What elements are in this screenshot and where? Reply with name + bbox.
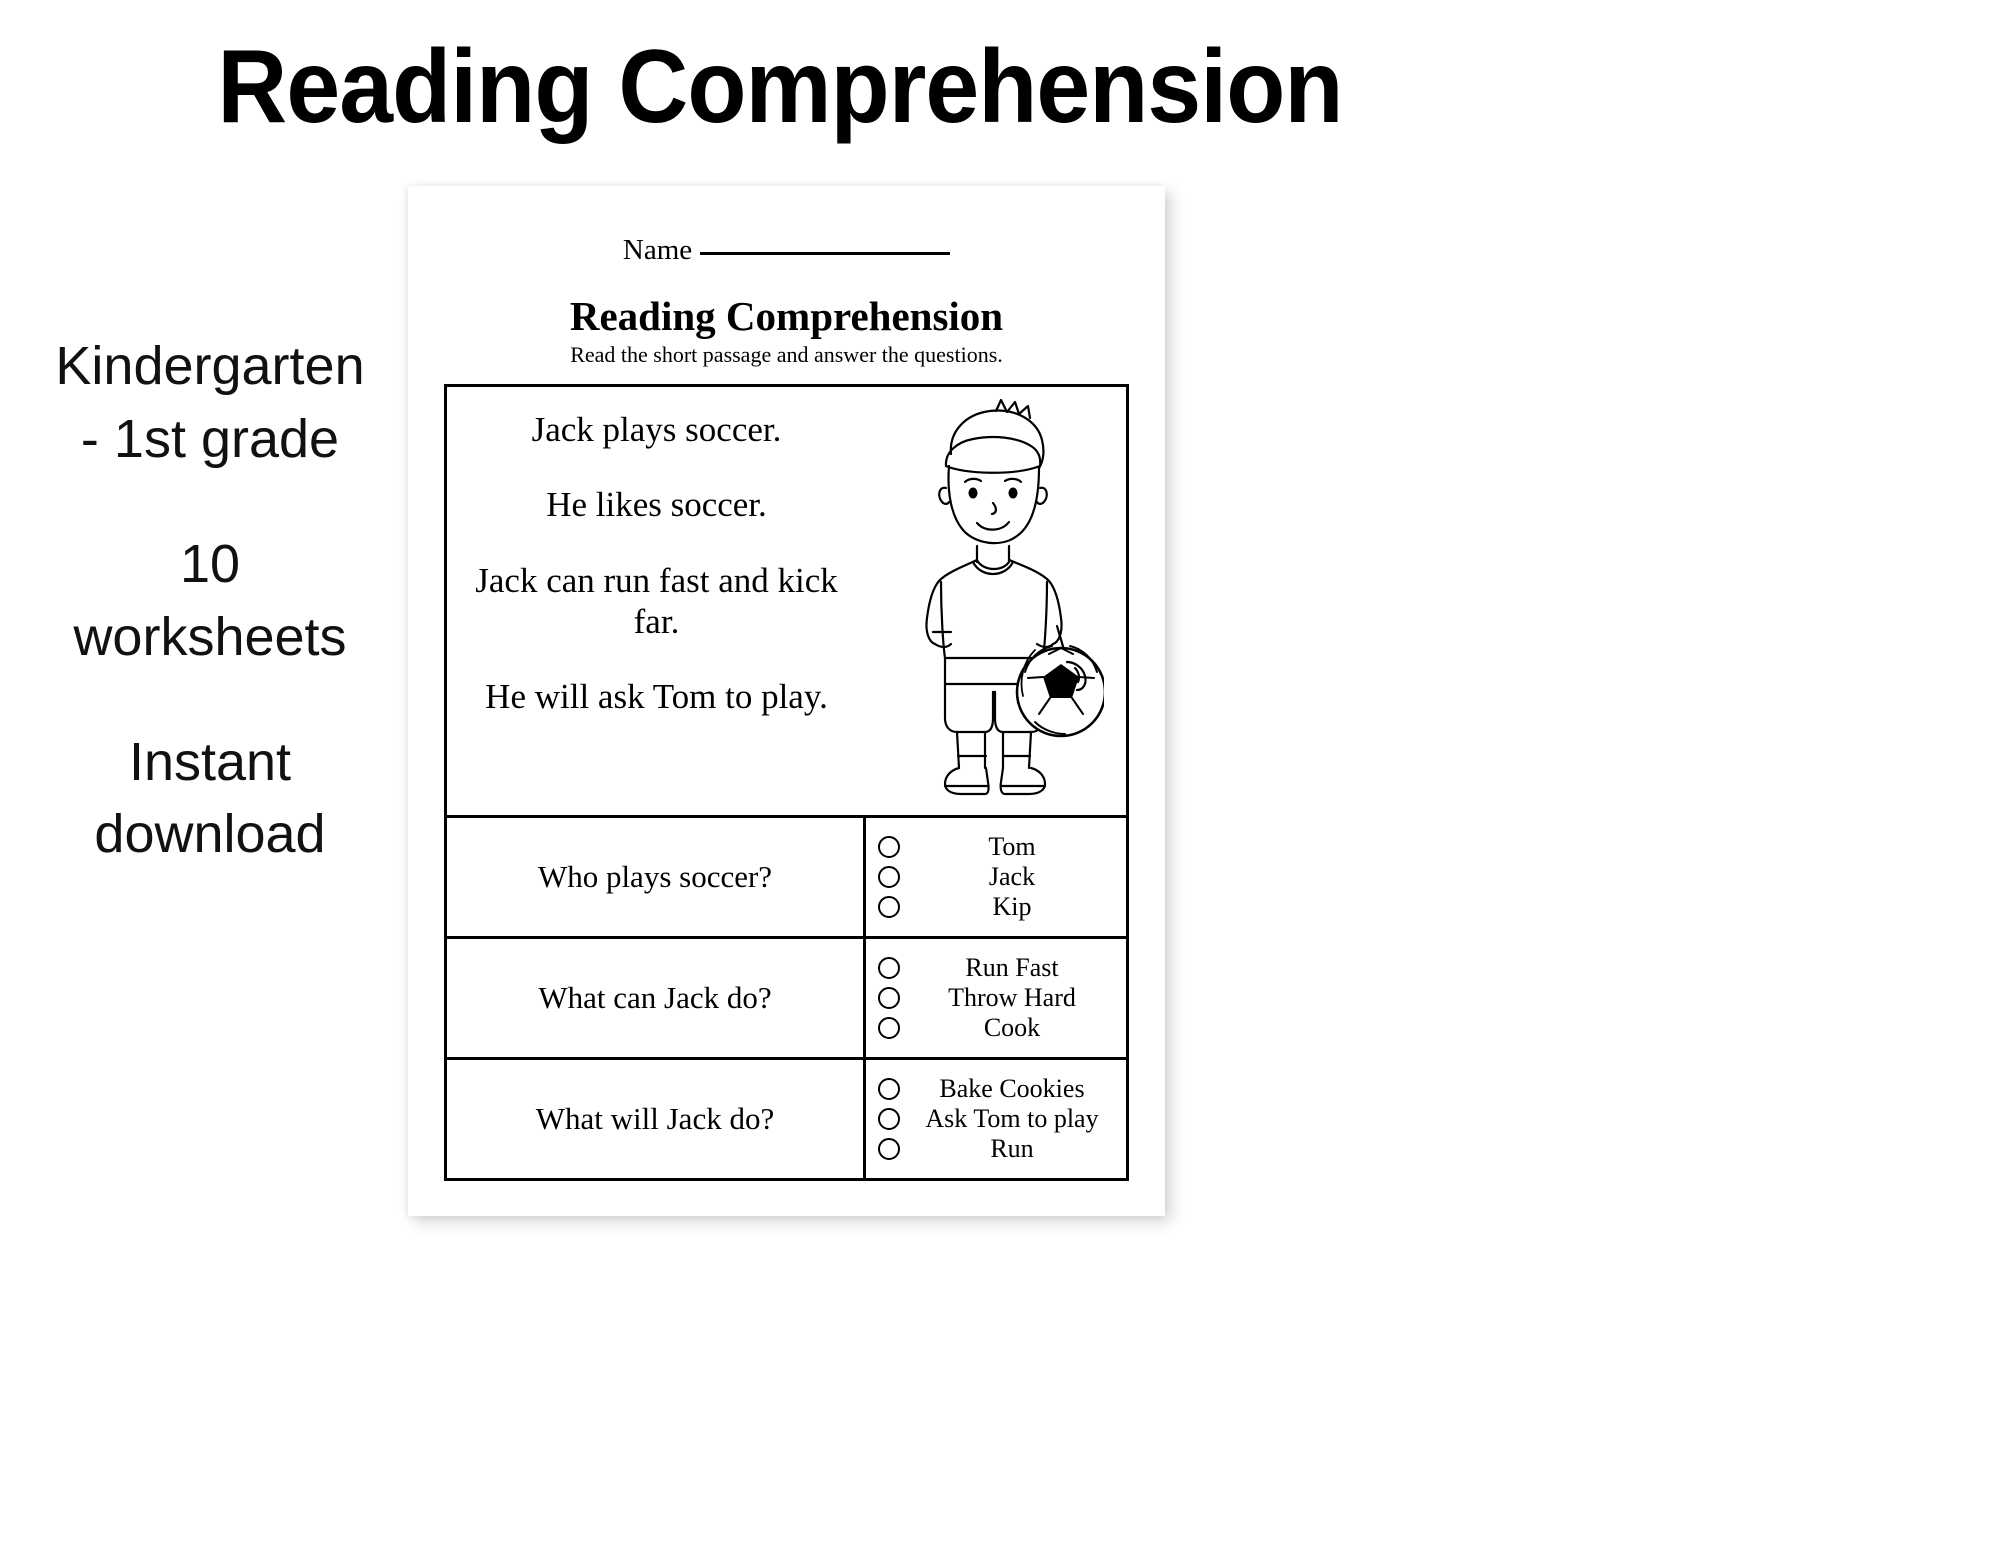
answer-option[interactable]: Throw Hard [878, 983, 1118, 1013]
question-prompt: What can Jack do? [447, 939, 866, 1057]
answer-option-label: Bake Cookies [906, 1075, 1118, 1103]
answer-options: Tom Jack Kip [866, 818, 1126, 936]
feature-grade-line-1: Kindergarten [0, 330, 420, 403]
answer-option[interactable]: Run Fast [878, 953, 1118, 983]
name-field-row: Name [444, 234, 1129, 267]
page-title: Reading Comprehension [55, 30, 1506, 144]
answer-options: Run Fast Throw Hard Cook [866, 939, 1126, 1057]
answer-option[interactable]: Ask Tom to play [878, 1104, 1118, 1134]
answer-option-label: Jack [906, 863, 1118, 891]
worksheet-instructions: Read the short passage and answer the qu… [444, 342, 1129, 368]
radio-icon[interactable] [878, 836, 900, 858]
radio-icon[interactable] [878, 1138, 900, 1160]
radio-icon[interactable] [878, 1078, 900, 1100]
feature-grade-line-2: - 1st grade [0, 403, 420, 476]
answer-option-label: Ask Tom to play [906, 1105, 1118, 1133]
passage-row: Jack plays soccer. He likes soccer. Jack… [447, 387, 1126, 818]
worksheet-title: Reading Comprehension [444, 292, 1129, 340]
answer-option-label: Run [906, 1135, 1118, 1163]
answer-option[interactable]: Bake Cookies [878, 1074, 1118, 1104]
answer-option[interactable]: Cook [878, 1013, 1118, 1043]
radio-icon[interactable] [878, 1108, 900, 1130]
answer-options: Bake Cookies Ask Tom to play Run [866, 1060, 1126, 1178]
radio-icon[interactable] [878, 987, 900, 1009]
question-prompt: Who plays soccer? [447, 818, 866, 936]
worksheet-preview: Name Reading Comprehension Read the shor… [408, 186, 1165, 1216]
feature-list: Kindergarten - 1st grade 10 worksheets I… [0, 330, 420, 871]
passage-line: Jack plays soccer. [457, 409, 856, 450]
answer-option[interactable]: Jack [878, 862, 1118, 892]
question-row: What will Jack do? Bake Cookies Ask Tom … [447, 1060, 1126, 1178]
answer-option[interactable]: Kip [878, 892, 1118, 922]
radio-icon[interactable] [878, 957, 900, 979]
feature-worksheet-count: 10 worksheets [0, 528, 420, 674]
feature-delivery-line-1: Instant [0, 726, 420, 799]
radio-icon[interactable] [878, 896, 900, 918]
feature-count-line-1: 10 [0, 528, 420, 601]
feature-delivery: Instant download [0, 726, 420, 872]
passage-line: Jack can run fast and kick far. [457, 560, 856, 643]
name-label: Name [623, 234, 692, 266]
feature-delivery-line-2: download [0, 798, 420, 871]
answer-option-label: Cook [906, 1014, 1118, 1042]
name-input-line[interactable] [700, 252, 950, 255]
answer-option-label: Tom [906, 833, 1118, 861]
radio-icon[interactable] [878, 866, 900, 888]
feature-count-line-2: worksheets [0, 601, 420, 674]
answer-option-label: Throw Hard [906, 984, 1118, 1012]
soccer-boy-illustration [866, 387, 1126, 815]
question-row: Who plays soccer? Tom Jack Kip [447, 818, 1126, 939]
worksheet-table: Jack plays soccer. He likes soccer. Jack… [444, 384, 1129, 1181]
answer-option-label: Run Fast [906, 954, 1118, 982]
answer-option[interactable]: Tom [878, 832, 1118, 862]
answer-option[interactable]: Run [878, 1134, 1118, 1164]
answer-option-label: Kip [906, 893, 1118, 921]
passage-text: Jack plays soccer. He likes soccer. Jack… [447, 387, 866, 815]
passage-line: He will ask Tom to play. [457, 676, 856, 717]
question-prompt: What will Jack do? [447, 1060, 866, 1178]
radio-icon[interactable] [878, 1017, 900, 1039]
passage-line: He likes soccer. [457, 484, 856, 525]
question-row: What can Jack do? Run Fast Throw Hard Co… [447, 939, 1126, 1060]
feature-grade-range: Kindergarten - 1st grade [0, 330, 420, 476]
